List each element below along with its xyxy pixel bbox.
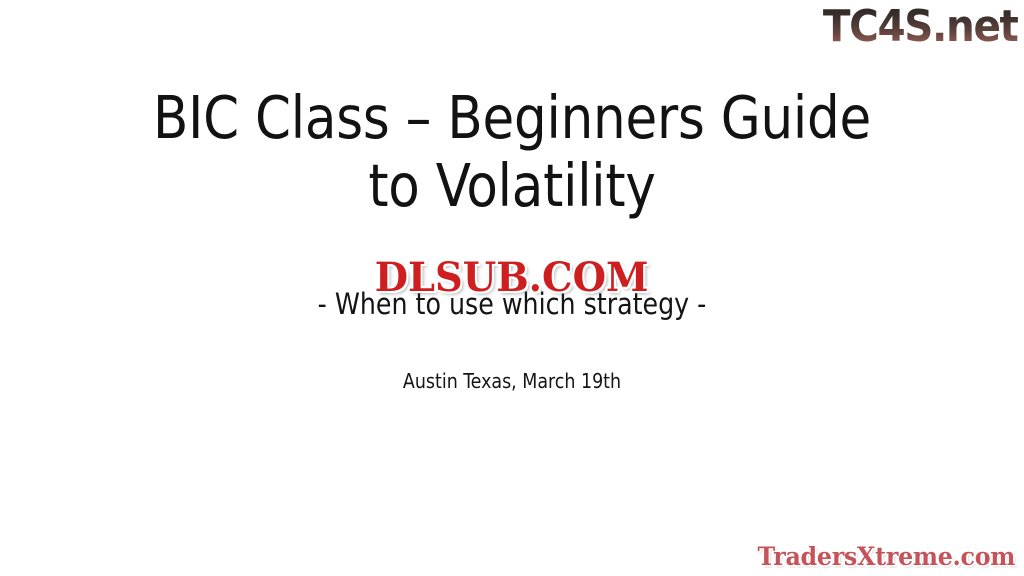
slide-subtitle: - When to use which strategy -	[15, 287, 1008, 321]
tradersxtreme-logo: TradersXtreme.com	[757, 543, 1015, 570]
slide-content: BIC Class – Beginners Guide to Volatilit…	[0, 0, 1024, 576]
slide-title-line-2: to Volatility	[15, 152, 1008, 220]
presentation-slide: TC4S.net BIC Class – Beginners Guide to …	[0, 0, 1024, 576]
slide-title: BIC Class – Beginners Guide to Volatilit…	[15, 84, 1008, 220]
slide-event-location-date: Austin Texas, March 19th	[15, 368, 1008, 394]
slide-title-line-1: BIC Class – Beginners Guide	[15, 84, 1008, 152]
